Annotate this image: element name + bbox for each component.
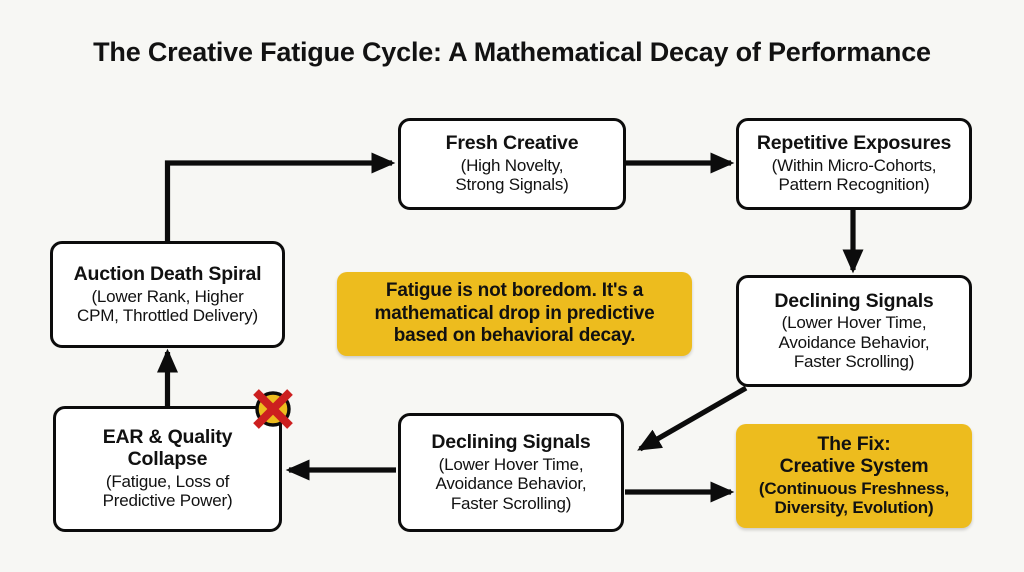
node-detail: (Continuous Freshness,Diversity, Evoluti… [759,479,949,518]
node-heading: Repetitive Exposures [757,133,951,155]
node-heading: Auction Death Spiral [74,264,262,286]
node-detail: (Lower Rank, HigherCPM, Throttled Delive… [77,287,258,326]
node-heading: EAR & QualityCollapse [103,427,233,471]
callout-fatigue-definition: Fatigue is not boredom. It's amathematic… [337,272,692,356]
node-heading: Declining Signals [774,291,933,313]
node-heading: Fresh Creative [446,133,579,155]
node-auction-death-spiral[interactable]: Auction Death Spiral (Lower Rank, Higher… [50,241,285,348]
node-heading: The Fix:Creative System [780,434,929,478]
node-detail: (Within Micro-Cohorts,Pattern Recognitio… [772,156,937,195]
node-heading: Declining Signals [431,432,590,454]
node-repetitive-exposures[interactable]: Repetitive Exposures (Within Micro-Cohor… [736,118,972,210]
node-detail: (Lower Hover Time,Avoidance Behavior,Fas… [779,313,930,371]
node-declining-signals-right[interactable]: Declining Signals (Lower Hover Time,Avoi… [736,275,972,387]
node-declining-signals-bottom[interactable]: Declining Signals (Lower Hover Time,Avoi… [398,413,624,532]
callout-text: Fatigue is not boredom. It's amathematic… [375,280,655,347]
node-detail: (Fatigue, Loss ofPredictive Power) [103,472,233,511]
diagram-canvas: The Creative Fatigue Cycle: A Mathematic… [0,0,1024,572]
node-detail: (High Novelty,Strong Signals) [455,156,568,195]
node-the-fix-creative-system[interactable]: The Fix:Creative System (Continuous Fres… [736,424,972,528]
node-detail: (Lower Hover Time,Avoidance Behavior,Fas… [436,455,587,513]
edge-auction-to-fresh [168,163,393,241]
edge-declining-to-declining [640,388,746,449]
red-x-circle-icon [248,384,298,434]
node-fresh-creative[interactable]: Fresh Creative (High Novelty,Strong Sign… [398,118,626,210]
